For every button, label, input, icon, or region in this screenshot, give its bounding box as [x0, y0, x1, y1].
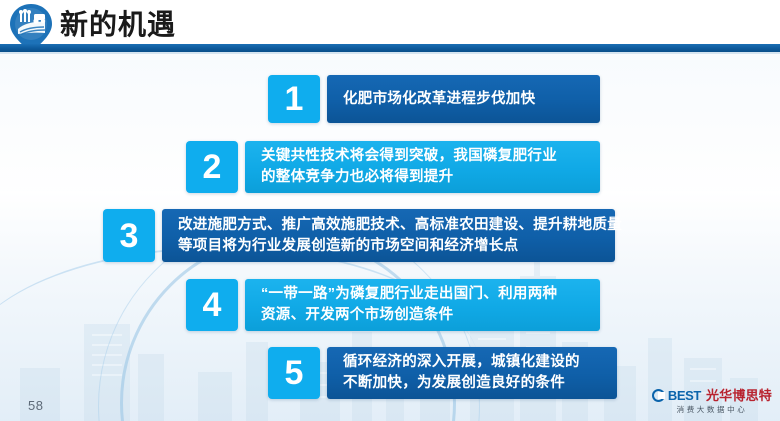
- point-text-line: 改进施肥方式、推广高效施肥技术、高标准农田建设、提升耕地质量: [178, 215, 601, 236]
- point-text-line: 化肥市场化改革进程步伐加快: [343, 89, 586, 110]
- brand-logo-main: BEST 光华博思特: [652, 389, 772, 402]
- point-number-badge: 5: [268, 347, 320, 399]
- list-item[interactable]: 4 “一带一路”为磷复肥行业走出国门、利用两种 资源、开发两个市场创造条件: [186, 279, 600, 331]
- slide: 新的机遇 1 化肥市场化改革进程步伐加快 2 关键共性技术将会得到突破，我国磷复…: [0, 0, 780, 421]
- brand-name: BEST: [668, 389, 701, 402]
- point-number-badge: 1: [268, 75, 320, 123]
- point-text-bar: 改进施肥方式、推广高效施肥技术、高标准农田建设、提升耕地质量 等项目将为行业发展…: [162, 209, 615, 262]
- slide-header: 新的机遇: [0, 0, 780, 54]
- point-text-line: 关键共性技术将会得到突破，我国磷复肥行业: [261, 146, 586, 167]
- page-number: 58: [28, 398, 43, 413]
- list-item[interactable]: 5 循环经济的深入开展，城镇化建设的 不断加快，为发展创造良好的条件: [268, 347, 617, 399]
- point-number-badge: 3: [103, 209, 155, 262]
- page-title: 新的机遇: [60, 7, 176, 43]
- brand-subtitle: 消费大数据中心: [677, 404, 748, 415]
- point-text-bar: 循环经济的深入开展，城镇化建设的 不断加快，为发展创造良好的条件: [327, 347, 617, 399]
- header-divider: [0, 44, 780, 52]
- brand-circle-icon: [652, 389, 665, 402]
- point-text-bar: “一带一路”为磷复肥行业走出国门、利用两种 资源、开发两个市场创造条件: [245, 279, 600, 331]
- points-list: 1 化肥市场化改革进程步伐加快 2 关键共性技术将会得到突破，我国磷复肥行业 的…: [0, 0, 780, 421]
- point-text-line: 不断加快，为发展创造良好的条件: [343, 373, 603, 394]
- point-text-bar: 化肥市场化改革进程步伐加快: [327, 75, 600, 123]
- header-divider-shadow: [0, 52, 780, 54]
- list-item[interactable]: 3 改进施肥方式、推广高效施肥技术、高标准农田建设、提升耕地质量 等项目将为行业…: [103, 209, 615, 262]
- list-item[interactable]: 1 化肥市场化改革进程步伐加快: [268, 75, 600, 123]
- brand-logo: BEST 光华博思特 消费大数据中心: [652, 389, 772, 415]
- point-text-line: 的整体竞争力也必将得到提升: [261, 167, 586, 188]
- point-number-badge: 2: [186, 141, 238, 193]
- point-number-badge: 4: [186, 279, 238, 331]
- list-item[interactable]: 2 关键共性技术将会得到突破，我国磷复肥行业 的整体竞争力也必将得到提升: [186, 141, 600, 193]
- point-text-line: 循环经济的深入开展，城镇化建设的: [343, 352, 603, 373]
- point-text-line: 资源、开发两个市场创造条件: [261, 305, 586, 326]
- point-text-bar: 关键共性技术将会得到突破，我国磷复肥行业 的整体竞争力也必将得到提升: [245, 141, 600, 193]
- point-text-line: 等项目将为行业发展创造新的市场空间和经济增长点: [178, 236, 601, 257]
- point-text-line: “一带一路”为磷复肥行业走出国门、利用两种: [261, 284, 586, 305]
- brand-name-cn: 光华博思特: [706, 389, 772, 402]
